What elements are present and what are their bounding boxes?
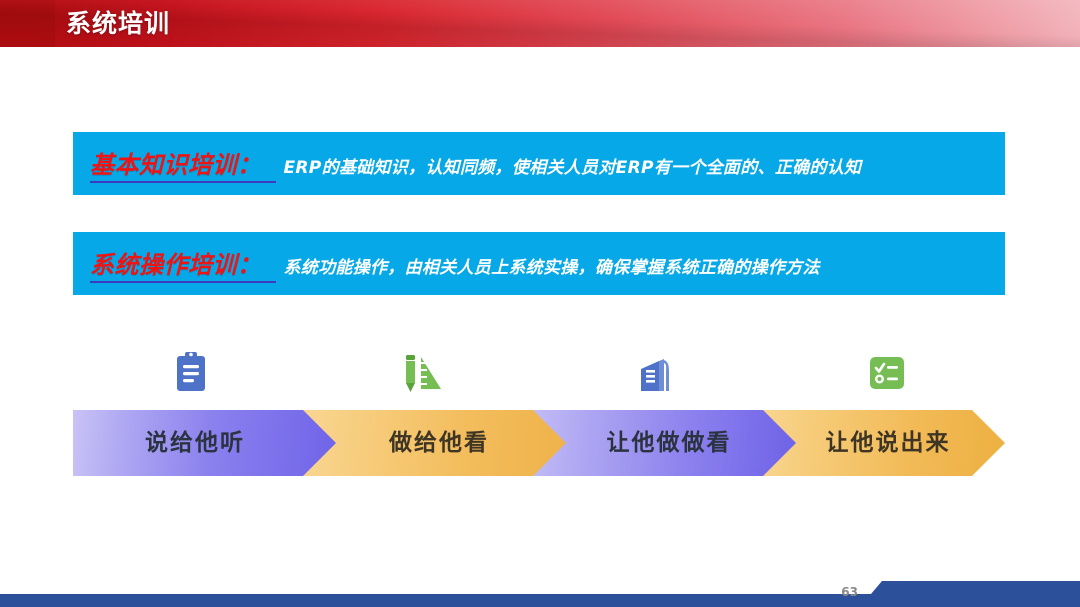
page-number: 63 (841, 586, 858, 599)
process-step-4[interactable]: 让他说出来 (763, 410, 1005, 476)
process-step-label: 说给他听 (145, 432, 245, 455)
process-step-label: 让他做做看 (607, 432, 732, 455)
footer-bar-right (860, 581, 1080, 607)
checklist-tasks-icon (859, 348, 915, 398)
clipboard-list-icon (163, 348, 219, 398)
slide-footer: 63 (0, 581, 1080, 607)
process-step-label: 做给他看 (389, 432, 489, 455)
slide-header-bar: 系统培训 (0, 0, 1080, 47)
process-step-2[interactable]: 做给他看 (303, 410, 571, 476)
footer-bar-left (0, 594, 880, 607)
page-title: 系统培训 (66, 8, 170, 39)
statement-label: 基本知识培训： (90, 145, 276, 183)
process-step-1[interactable]: 说给他听 (73, 410, 341, 476)
statement-box-basic-knowledge: 基本知识培训： ERP的基础知识，认知同频，使相关人员对ERP有一个全面的、正确… (73, 132, 1005, 195)
pencil-ruler-icon (395, 348, 451, 398)
process-step-3[interactable]: 让他做做看 (533, 410, 801, 476)
process-icon-row (73, 348, 1005, 398)
process-step-label: 让他说出来 (826, 432, 951, 455)
statement-label: 系统操作培训： (90, 245, 276, 283)
factory-building-icon (627, 348, 683, 398)
statement-text: ERP的基础知识，认知同频，使相关人员对ERP有一个全面的、正确的认知 (284, 153, 862, 178)
process-arrow-row: 说给他听 做给他看 让他做做看 让他说出来 (73, 410, 1005, 476)
header-accent-block (0, 0, 55, 47)
statement-text: 系统功能操作，由相关人员上系统实操，确保掌握系统正确的操作方法 (284, 253, 820, 278)
statement-box-system-operation: 系统操作培训： 系统功能操作，由相关人员上系统实操，确保掌握系统正确的操作方法 (73, 232, 1005, 295)
